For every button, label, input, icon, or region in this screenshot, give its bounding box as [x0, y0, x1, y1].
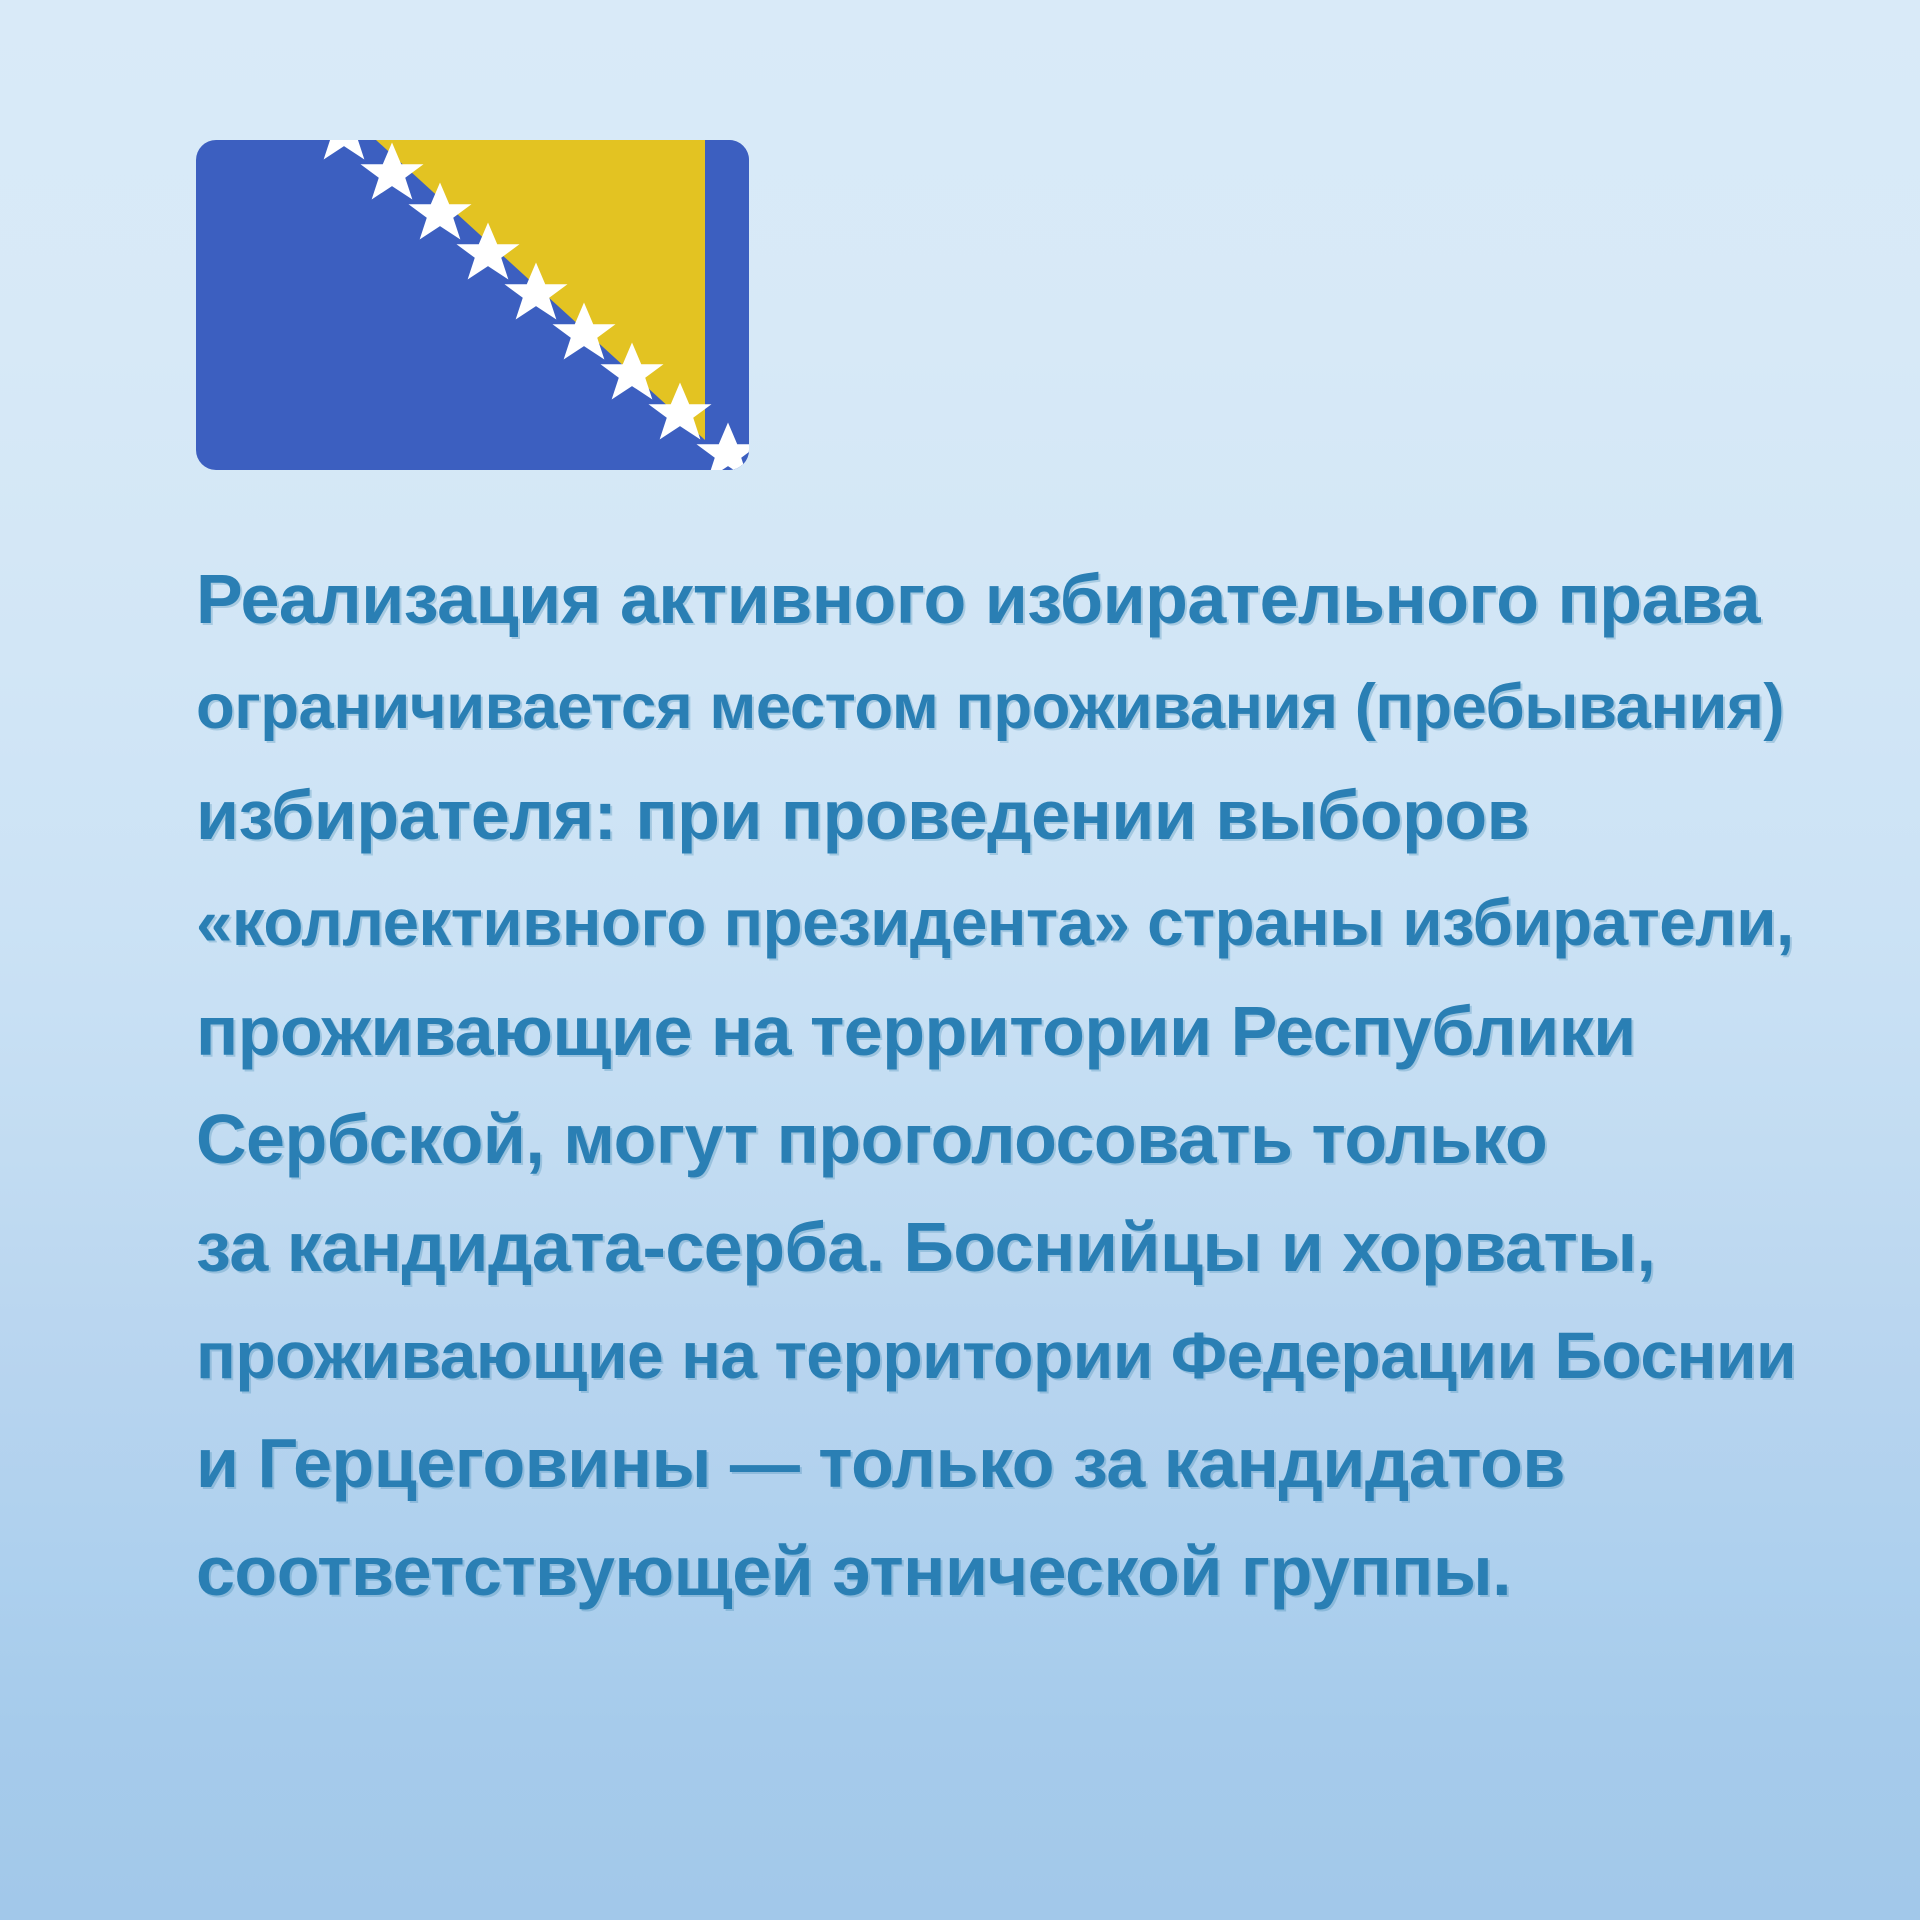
paragraph-line: Сербской, могут проголосовать только: [196, 1085, 1796, 1193]
flag-container: [196, 140, 749, 470]
flag-right-blue-band: [705, 140, 749, 470]
infographic-card: Реализация активного избирательного прав…: [0, 0, 1920, 1920]
bosnia-and-herzegovina-flag-icon: [196, 140, 749, 470]
paragraph-line: проживающие на территории Республики: [196, 977, 1796, 1085]
paragraph-line: соответствующей этнической группы.: [196, 1517, 1796, 1625]
paragraph-line: «коллективного президента» страны избира…: [196, 869, 1796, 977]
paragraph-block: Реализация активного избирательного прав…: [196, 545, 1796, 1625]
paragraph-line: ограничивается местом проживания (пребыв…: [196, 653, 1796, 761]
paragraph-line: и Герцеговины — только за кандидатов: [196, 1409, 1796, 1517]
paragraph-line: за кандидата-серба. Боснийцы и хорваты,: [196, 1193, 1796, 1301]
paragraph-line: Реализация активного избирательного прав…: [196, 545, 1796, 653]
paragraph-line: проживающие на территории Федерации Босн…: [196, 1301, 1796, 1409]
paragraph-line: избирателя: при проведении выборов: [196, 761, 1796, 869]
